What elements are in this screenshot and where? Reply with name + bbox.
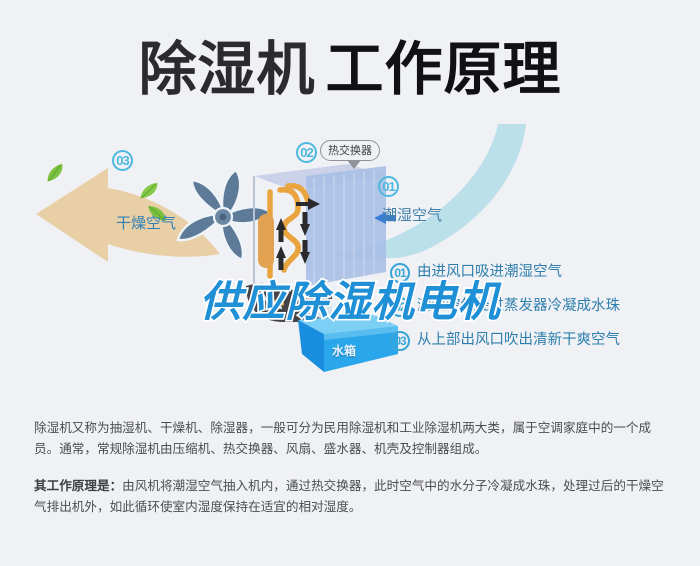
- page-title: 除湿机工作原理: [0, 22, 700, 106]
- paragraph-2-label: 其工作原理是：: [34, 479, 122, 493]
- callout-badge-02: 02: [296, 142, 317, 163]
- description-block: 除湿机又称为抽湿机、干燥机、除湿器，一般可分为民用除湿机和工业除湿机两大类，属于…: [34, 418, 674, 518]
- callout-badge-01: 01: [378, 176, 399, 197]
- callout-badge-01-num: 01: [378, 176, 399, 197]
- step-text: 从上部出风口吹出清新干爽空气: [417, 330, 620, 350]
- page-title-part1: 除湿机: [138, 37, 315, 102]
- water-tank-label: 水箱: [332, 342, 356, 359]
- callout-badge-03-num: 03: [112, 150, 133, 171]
- humid-air-label: 潮湿空气: [382, 204, 442, 225]
- heat-exchanger-callout-bubble: 热交换器: [320, 140, 380, 161]
- paragraph-1: 除湿机又称为抽湿机、干燥机、除湿器，一般可分为民用除湿机和工业除湿机两大类，属于…: [34, 418, 674, 460]
- callout-badge-02-num: 02: [296, 142, 317, 163]
- paragraph-2: 其工作原理是：由风机将潮湿空气抽入机内，通过热交换器，此时空气中的水分子冷凝成水…: [34, 476, 674, 518]
- dry-air-label: 干燥空气: [116, 212, 176, 233]
- callout-badge-03: 03: [112, 150, 133, 171]
- paragraph-2-text: 由风机将潮湿空气抽入机内，通过热交换器，此时空气中的水分子冷凝成水珠，处理过后的…: [34, 479, 664, 514]
- list-item: 03 从上部出风口吹出清新干爽空气: [390, 330, 690, 351]
- infographic-page: 除湿机工作原理: [0, 0, 700, 566]
- page-title-part2: 工作原理: [326, 37, 562, 102]
- step-number: 03: [390, 331, 410, 351]
- watermark-text: 供应除湿机电机: [0, 268, 700, 329]
